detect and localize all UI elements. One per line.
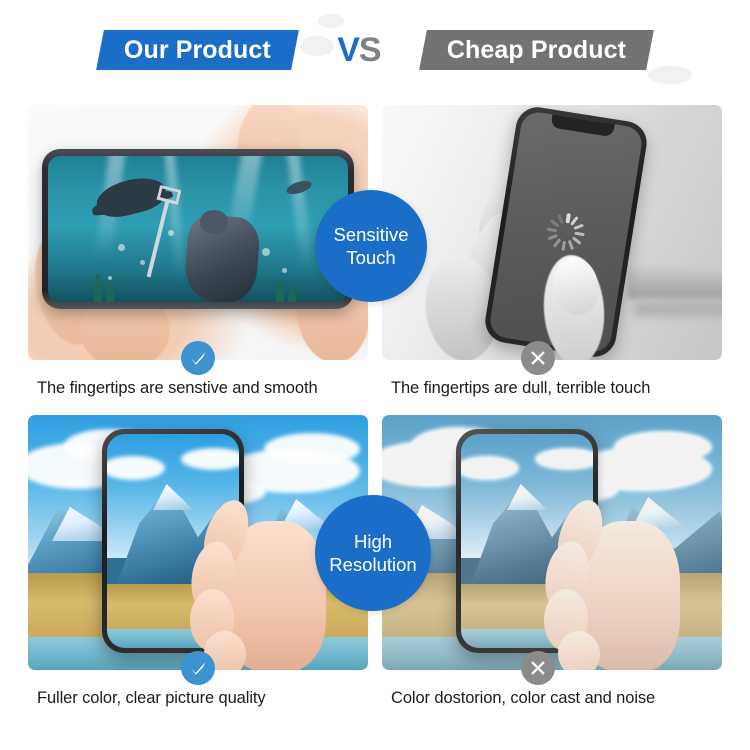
phone-landscape: [42, 149, 354, 309]
cross-icon: [521, 651, 555, 685]
check-icon: [181, 651, 215, 685]
diver-helmet: [200, 210, 228, 234]
bubble: [108, 276, 112, 280]
vs-label: VS: [337, 31, 380, 70]
loading-spinner-icon: [544, 210, 587, 253]
trident: [147, 201, 170, 278]
light-shaft: [164, 156, 185, 280]
vs-letter-v: V: [337, 31, 359, 69]
badge-touch-line2: Touch: [346, 246, 395, 269]
phone-notch: [550, 114, 615, 137]
bubble: [168, 230, 174, 236]
photo-high-resolution-bad: [382, 415, 722, 670]
phone-screen-game: [48, 156, 348, 302]
cross-icon: [521, 341, 555, 375]
caption-top-right: The fingertips are dull, terrible touch: [382, 379, 722, 398]
product-comparison-page: Our Product VS Cheap Product: [0, 0, 750, 750]
cloud: [535, 448, 593, 470]
seaweed: [94, 274, 102, 302]
light-shaft: [287, 156, 314, 270]
cheap-product-banner: Cheap Product: [419, 30, 654, 70]
bubble: [282, 268, 287, 273]
badge-high-resolution: High Resolution: [315, 495, 431, 611]
vs-letter-s: S: [359, 31, 381, 69]
badge-sensitive-touch: Sensitive Touch: [315, 190, 427, 302]
caption-top-left: The fingertips are senstive and smooth: [28, 379, 368, 398]
bubble: [118, 244, 125, 251]
bubble: [140, 260, 145, 265]
hand-holding-phone: [188, 481, 338, 670]
seaweed: [276, 278, 284, 302]
cloud: [264, 433, 360, 465]
our-product-banner: Our Product: [96, 30, 299, 70]
blurred-shelf: [628, 265, 722, 299]
cloud: [614, 431, 712, 463]
blurred-shelf: [634, 301, 722, 317]
badge-resolution-line1: High: [354, 530, 392, 553]
cloud: [181, 448, 239, 470]
seaweed: [288, 286, 296, 302]
check-icon: [181, 341, 215, 375]
comparison-header: Our Product VS Cheap Product: [0, 0, 750, 100]
badge-resolution-line2: Resolution: [329, 553, 416, 576]
cheap-product-label: Cheap Product: [447, 36, 626, 65]
seaweed: [106, 282, 114, 302]
bubble: [262, 248, 270, 256]
our-product-label: Our Product: [124, 36, 271, 65]
photo-sensitive-touch-bad: [382, 105, 722, 360]
caption-bottom-left: Fuller color, clear picture quality: [28, 689, 368, 708]
caption-bottom-right: Color dostorion, color cast and noise: [382, 689, 722, 708]
hand-holding-phone: [542, 481, 692, 670]
badge-touch-line1: Sensitive: [333, 223, 408, 246]
